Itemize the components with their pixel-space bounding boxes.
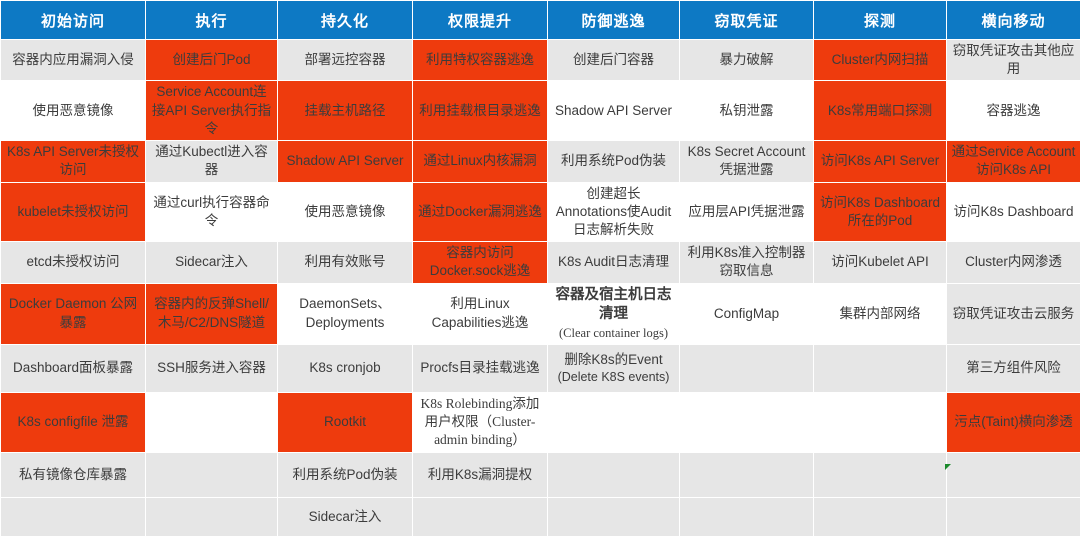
cell-secondary-text: (Clear container logs)	[552, 325, 675, 342]
table-row: 容器内应用漏洞入侵创建后门Pod部署远控容器利用特权容器逃逸创建后门容器暴力破解…	[1, 40, 1080, 81]
matrix-cell-r0-c7[interactable]: 窃取凭证攻击其他应用	[947, 40, 1080, 81]
column-header-6[interactable]: 探测	[814, 1, 947, 40]
attack-matrix-table: 初始访问执行持久化权限提升防御逃逸窃取凭证探测横向移动 容器内应用漏洞入侵创建后…	[0, 0, 1080, 537]
matrix-cell-r0-c5[interactable]: 暴力破解	[680, 40, 814, 81]
matrix-cell-r6-c4[interactable]: 删除K8s的Event(Delete K8S events)	[548, 344, 680, 392]
cell-primary-text: 容器及宿主机日志清理	[552, 286, 675, 325]
matrix-cell-r0-c2[interactable]: 部署远控容器	[278, 40, 413, 81]
matrix-cell-r9-c6	[814, 497, 947, 536]
matrix-cell-r1-c7[interactable]: 容器逃逸	[947, 81, 1080, 141]
matrix-cell-r4-c4[interactable]: K8s Audit日志清理	[548, 242, 680, 283]
table-row: 使用恶意镜像Service Account连接API Server执行指令挂载主…	[1, 81, 1080, 141]
matrix-cell-r9-c5	[680, 497, 814, 536]
column-header-4[interactable]: 防御逃逸	[548, 1, 680, 40]
matrix-cell-r6-c7[interactable]: 第三方组件风险	[947, 344, 1080, 392]
matrix-cell-r1-c2[interactable]: 挂载主机路径	[278, 81, 413, 141]
matrix-cell-r2-c6[interactable]: 访问K8s API Server	[814, 141, 947, 182]
matrix-cell-r8-c3[interactable]: 利用K8s漏洞提权	[413, 452, 548, 497]
matrix-cell-r3-c1[interactable]: 通过curl执行容器命令	[146, 182, 278, 242]
column-header-7[interactable]: 横向移动	[947, 1, 1080, 40]
matrix-cell-r0-c3[interactable]: 利用特权容器逃逸	[413, 40, 548, 81]
matrix-cell-r3-c0[interactable]: kubelet未授权访问	[1, 182, 146, 242]
matrix-header-row: 初始访问执行持久化权限提升防御逃逸窃取凭证探测横向移动	[1, 1, 1080, 40]
matrix-cell-r9-c3	[413, 497, 548, 536]
matrix-cell-r2-c2[interactable]: Shadow API Server	[278, 141, 413, 182]
matrix-cell-r5-c1[interactable]: 容器内的反弹Shell/木马/C2/DNS隧道	[146, 283, 278, 344]
matrix-cell-r5-c0[interactable]: Docker Daemon 公网暴露	[1, 283, 146, 344]
matrix-cell-r4-c1[interactable]: Sidecar注入	[146, 242, 278, 283]
cell-secondary-text: (Delete K8S events)	[552, 369, 675, 386]
matrix-cell-r0-c0[interactable]: 容器内应用漏洞入侵	[1, 40, 146, 81]
matrix-cell-r9-c4	[548, 497, 680, 536]
matrix-cell-r5-c2[interactable]: DaemonSets、Deployments	[278, 283, 413, 344]
table-row: Docker Daemon 公网暴露容器内的反弹Shell/木马/C2/DNS隧…	[1, 283, 1080, 344]
matrix-cell-r1-c5[interactable]: 私钥泄露	[680, 81, 814, 141]
matrix-cell-r6-c2[interactable]: K8s cronjob	[278, 344, 413, 392]
column-header-5[interactable]: 窃取凭证	[680, 1, 814, 40]
matrix-cell-r6-c5	[680, 344, 814, 392]
matrix-cell-r3-c7[interactable]: 访问K8s Dashboard	[947, 182, 1080, 242]
matrix-cell-r7-c1	[146, 392, 278, 452]
green-corner-marker	[945, 464, 951, 470]
matrix-cell-r6-c0[interactable]: Dashboard面板暴露	[1, 344, 146, 392]
matrix-cell-r1-c6[interactable]: K8s常用端口探测	[814, 81, 947, 141]
matrix-cell-r7-c0[interactable]: K8s configfile 泄露	[1, 392, 146, 452]
matrix-cell-r7-c5	[680, 392, 814, 452]
matrix-cell-r1-c4[interactable]: Shadow API Server	[548, 81, 680, 141]
matrix-cell-r2-c4[interactable]: 利用系统Pod伪装	[548, 141, 680, 182]
table-row: K8s configfile 泄露RootkitK8s Rolebinding添…	[1, 392, 1080, 452]
matrix-cell-r5-c6[interactable]: 集群内部网络	[814, 283, 947, 344]
matrix-cell-r8-c1	[146, 452, 278, 497]
matrix-body: 容器内应用漏洞入侵创建后门Pod部署远控容器利用特权容器逃逸创建后门容器暴力破解…	[1, 40, 1080, 537]
matrix-cell-r6-c1[interactable]: SSH服务进入容器	[146, 344, 278, 392]
matrix-cell-r7-c2[interactable]: Rootkit	[278, 392, 413, 452]
table-row: etcd未授权访问Sidecar注入利用有效账号容器内访问Docker.sock…	[1, 242, 1080, 283]
matrix-cell-r5-c3[interactable]: 利用Linux Capabilities逃逸	[413, 283, 548, 344]
matrix-cell-r4-c5[interactable]: 利用K8s准入控制器窃取信息	[680, 242, 814, 283]
column-header-0[interactable]: 初始访问	[1, 1, 146, 40]
table-row: K8s API Server未授权访问通过Kubectl进入容器Shadow A…	[1, 141, 1080, 182]
matrix-cell-r8-c4	[548, 452, 680, 497]
matrix-cell-r9-c1	[146, 497, 278, 536]
matrix-cell-r9-c0	[1, 497, 146, 536]
matrix-cell-r3-c5[interactable]: 应用层API凭据泄露	[680, 182, 814, 242]
matrix-cell-r1-c3[interactable]: 利用挂载根目录逃逸	[413, 81, 548, 141]
table-row: 私有镜像仓库暴露利用系统Pod伪装利用K8s漏洞提权	[1, 452, 1080, 497]
matrix-cell-r2-c3[interactable]: 通过Linux内核漏洞	[413, 141, 548, 182]
matrix-cell-r7-c3[interactable]: K8s Rolebinding添加用户权限（Cluster-admin bind…	[413, 392, 548, 452]
column-header-3[interactable]: 权限提升	[413, 1, 548, 40]
matrix-cell-r3-c4[interactable]: 创建超长Annotations使Audit日志解析失败	[548, 182, 680, 242]
matrix-cell-r5-c7[interactable]: 窃取凭证攻击云服务	[947, 283, 1080, 344]
column-header-1[interactable]: 执行	[146, 1, 278, 40]
matrix-cell-r2-c5[interactable]: K8s Secret Account凭据泄露	[680, 141, 814, 182]
matrix-cell-r3-c2[interactable]: 使用恶意镜像	[278, 182, 413, 242]
matrix-cell-r1-c0[interactable]: 使用恶意镜像	[1, 81, 146, 141]
matrix-cell-r9-c2[interactable]: Sidecar注入	[278, 497, 413, 536]
matrix-cell-r3-c3[interactable]: 通过Docker漏洞逃逸	[413, 182, 548, 242]
matrix-cell-r8-c7	[947, 452, 1080, 497]
cell-primary-text: 删除K8s的Event	[564, 352, 662, 367]
matrix-cell-r4-c6[interactable]: 访问Kubelet API	[814, 242, 947, 283]
matrix-cell-r4-c3[interactable]: 容器内访问Docker.sock逃逸	[413, 242, 548, 283]
table-row: Dashboard面板暴露SSH服务进入容器K8s cronjobProcfs目…	[1, 344, 1080, 392]
matrix-cell-r8-c2[interactable]: 利用系统Pod伪装	[278, 452, 413, 497]
matrix-cell-r0-c6[interactable]: Cluster内网扫描	[814, 40, 947, 81]
table-row: Sidecar注入	[1, 497, 1080, 536]
matrix-cell-r2-c0[interactable]: K8s API Server未授权访问	[1, 141, 146, 182]
table-row: kubelet未授权访问通过curl执行容器命令使用恶意镜像通过Docker漏洞…	[1, 182, 1080, 242]
matrix-cell-r8-c6	[814, 452, 947, 497]
matrix-cell-r6-c3[interactable]: Procfs目录挂载逃逸	[413, 344, 548, 392]
matrix-cell-r2-c1[interactable]: 通过Kubectl进入容器	[146, 141, 278, 182]
matrix-cell-r8-c5	[680, 452, 814, 497]
matrix-cell-r8-c0[interactable]: 私有镜像仓库暴露	[1, 452, 146, 497]
matrix-cell-r3-c6[interactable]: 访问K8s Dashboard所在的Pod	[814, 182, 947, 242]
matrix-cell-r0-c1[interactable]: 创建后门Pod	[146, 40, 278, 81]
matrix-cell-r4-c7[interactable]: Cluster内网渗透	[947, 242, 1080, 283]
matrix-cell-r2-c7[interactable]: 通过Service Account访问K8s API	[947, 141, 1080, 182]
matrix-cell-r0-c4[interactable]: 创建后门容器	[548, 40, 680, 81]
matrix-cell-r7-c6	[814, 392, 947, 452]
matrix-cell-r5-c4[interactable]: 容器及宿主机日志清理(Clear container logs)	[548, 283, 680, 344]
matrix-cell-r4-c2[interactable]: 利用有效账号	[278, 242, 413, 283]
matrix-cell-r7-c7[interactable]: 污点(Taint)横向渗透	[947, 392, 1080, 452]
matrix-cell-r7-c4	[548, 392, 680, 452]
column-header-2[interactable]: 持久化	[278, 1, 413, 40]
matrix-cell-r6-c6	[814, 344, 947, 392]
matrix-cell-r1-c1[interactable]: Service Account连接API Server执行指令	[146, 81, 278, 141]
matrix-cell-r4-c0[interactable]: etcd未授权访问	[1, 242, 146, 283]
matrix-cell-r5-c5[interactable]: ConfigMap	[680, 283, 814, 344]
matrix-cell-r9-c7	[947, 497, 1080, 536]
